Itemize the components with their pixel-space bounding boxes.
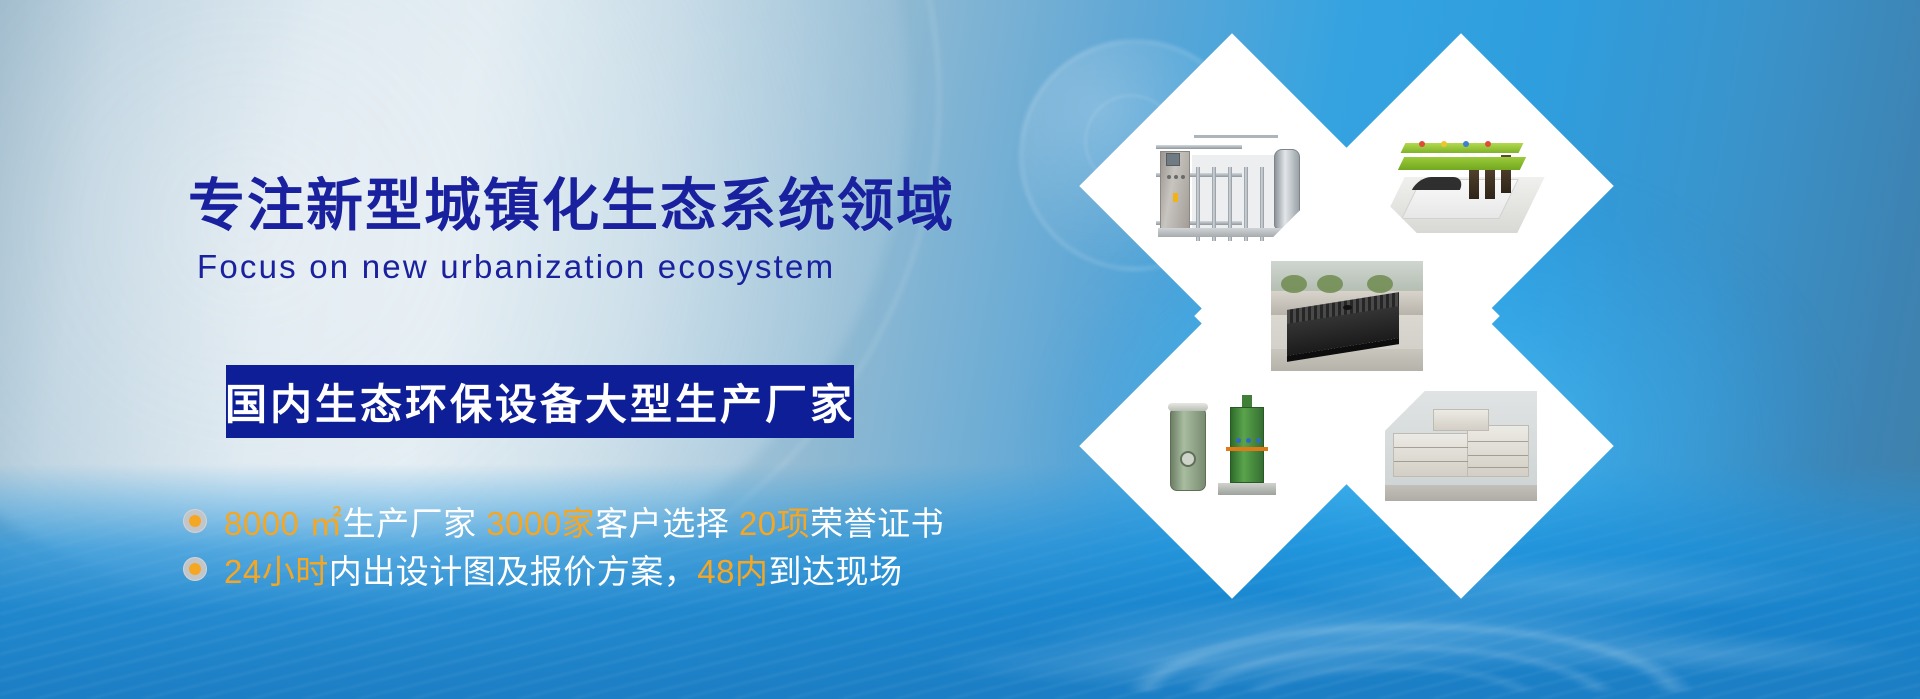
bullet-highlight: 48内 — [697, 553, 768, 590]
bullet-highlight: 8000 ㎡ — [224, 505, 343, 542]
banner-badge: 国内生态环保设备大型生产厂家 — [226, 365, 854, 438]
bullet-item: 8000 ㎡生产厂家 3000家客户选择 20项荣誉证书 — [183, 497, 944, 545]
bullet-plain: 生产厂家 — [343, 505, 487, 542]
banner-badge-text: 国内生态环保设备大型生产厂家 — [225, 371, 855, 432]
banner-bullet-list: 8000 ㎡生产厂家 3000家客户选择 20项荣誉证书 24小时内出设计图及报… — [183, 497, 944, 593]
bullet-plain: 到达现场 — [768, 553, 902, 590]
bullet-plain: 内出设计图及报价方案， — [329, 553, 698, 590]
bullet-text: 24小时内出设计图及报价方案，48内到达现场 — [224, 545, 902, 593]
promo-banner: 专注新型城镇化生态系统领域 Focus on new urbanization … — [0, 0, 1920, 699]
product-diamond-gallery — [1128, 60, 1628, 580]
bullet-dot-icon — [183, 557, 207, 581]
bullet-highlight: 3000家 — [486, 505, 595, 542]
mbbr-media-block-image — [1271, 261, 1423, 371]
bullet-text: 8000 ㎡生产厂家 3000家客户选择 20项荣誉证书 — [224, 497, 944, 545]
bullet-item: 24小时内出设计图及报价方案，48内到达现场 — [183, 545, 944, 593]
bullet-plain: 荣誉证书 — [810, 505, 944, 542]
bullet-highlight: 20项 — [739, 505, 810, 542]
bullet-plain: 客户选择 — [595, 505, 739, 542]
banner-subheadline: Focus on new urbanization ecosystem — [197, 248, 835, 286]
bullet-highlight: 24小时 — [224, 553, 329, 590]
bullet-dot-icon — [183, 509, 207, 533]
banner-copy: 专注新型城镇化生态系统领域 Focus on new urbanization … — [0, 0, 1120, 699]
banner-headline: 专注新型城镇化生态系统领域 — [188, 176, 955, 236]
